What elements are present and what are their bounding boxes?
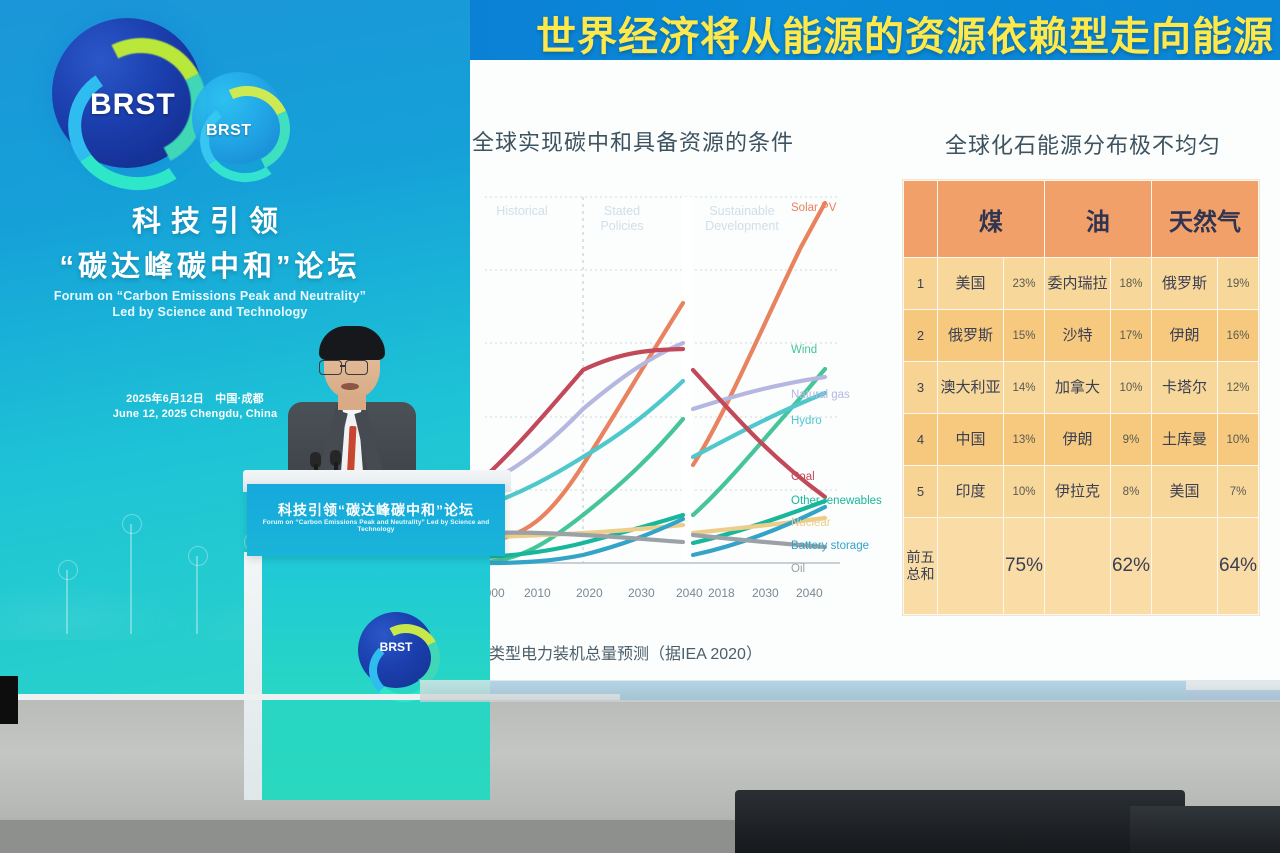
- chart-legend-natural-gas: Natural gas: [791, 389, 850, 401]
- chart-xtick-2030-sd: 2030: [752, 586, 779, 600]
- table-header-gas: 天然气: [1151, 181, 1258, 258]
- speaker-presenter: [286, 330, 418, 482]
- speaker-hair: [319, 326, 385, 360]
- row-rank: 5: [904, 466, 938, 518]
- total-gas-pct: 64%: [1218, 518, 1259, 615]
- cell-coal-pct: 10%: [1004, 466, 1045, 518]
- speaker-mouth: [341, 383, 359, 390]
- total-oil-blank: [1044, 518, 1110, 615]
- cell-coal-pct: 14%: [1004, 362, 1045, 414]
- cell-gas-country: 卡塔尔: [1151, 362, 1217, 414]
- chart-legend-battery-storage: Battery storage: [791, 540, 869, 552]
- cell-coal-country: 澳大利亚: [937, 362, 1003, 414]
- chart-xtick-2030: 2030: [628, 586, 655, 600]
- table-row: 4 中国 13% 伊朗 9% 土库曼 10%: [904, 414, 1259, 466]
- row-rank: 3: [904, 362, 938, 414]
- cell-oil-pct: 8%: [1111, 466, 1152, 518]
- slide-header-title: 世界经济将从能源的资源依赖型走向能源: [536, 4, 1280, 62]
- podium-banner-title-cn: 科技引领“碳达峰碳中和”论坛: [247, 500, 505, 520]
- cell-coal-pct: 13%: [1004, 414, 1045, 466]
- cell-oil-country: 伊朗: [1044, 414, 1110, 466]
- chart-legend-nuclear: Nuclear: [791, 517, 831, 529]
- stage-monitor-screen-secondary: [1130, 806, 1280, 853]
- cell-coal-country: 印度: [937, 466, 1003, 518]
- chart-legend-wind: Wind: [791, 344, 817, 356]
- total-coal-pct: 75%: [1004, 518, 1045, 615]
- chart-xtick-2018-sd: 2018: [708, 586, 735, 600]
- room-dark-corner: [0, 676, 18, 724]
- chart-legend-hydro: Hydro: [791, 415, 822, 427]
- cell-coal-pct: 15%: [1004, 310, 1045, 362]
- table-header-blank: [904, 181, 938, 258]
- cell-oil-country: 伊拉克: [1044, 466, 1110, 518]
- cell-oil-pct: 18%: [1111, 258, 1152, 310]
- chart-xtick-2040-sd: 2040: [796, 586, 823, 600]
- cell-gas-country: 土库曼: [1151, 414, 1217, 466]
- cell-gas-pct: 7%: [1218, 466, 1259, 518]
- cell-oil-pct: 10%: [1111, 362, 1152, 414]
- logo-wordmark: BRST: [90, 88, 176, 122]
- backdrop-title-cn-line2: “碳达峰碳中和”论坛: [0, 243, 420, 285]
- table-total-row: 前五总和 75% 62% 64%: [904, 518, 1259, 615]
- row-rank: 4: [904, 414, 938, 466]
- cell-gas-country: 美国: [1151, 466, 1217, 518]
- slide-right-heading: 全球化石能源分布极不均匀: [945, 128, 1221, 160]
- wind-turbine-icon: [66, 570, 68, 634]
- total-label: 前五总和: [904, 518, 938, 615]
- screen-bottom-frame: [420, 680, 1280, 702]
- backdrop-title-cn-line1: 科技引领: [0, 198, 420, 240]
- cell-gas-country: 伊朗: [1151, 310, 1217, 362]
- fossil-fuel-distribution-table: 煤 油 天然气 1 美国 23% 委内瑞拉 18% 俄罗斯 19% 2 俄罗斯 …: [903, 180, 1259, 615]
- cell-oil-country: 委内瑞拉: [1044, 258, 1110, 310]
- chart-xtick-2020: 2020: [576, 586, 603, 600]
- table-header-row: 煤 油 天然气: [904, 181, 1259, 258]
- table-header-coal: 煤: [937, 181, 1044, 258]
- chart-legend-coal: Coal: [791, 471, 815, 483]
- wind-turbine-icon: [196, 556, 198, 634]
- cell-oil-country: 沙特: [1044, 310, 1110, 362]
- chart-legend-solar-pv: Solar PV: [791, 202, 836, 214]
- total-gas-blank: [1151, 518, 1217, 615]
- cell-oil-country: 加拿大: [1044, 362, 1110, 414]
- cell-coal-country: 美国: [937, 258, 1003, 310]
- chart-xtick-2040: 2040: [676, 586, 703, 600]
- table-row: 2 俄罗斯 15% 沙特 17% 伊朗 16%: [904, 310, 1259, 362]
- wind-turbine-icon: [130, 524, 132, 634]
- backdrop-title-en-line1: Forum on “Carbon Emissions Peak and Neut…: [0, 288, 420, 304]
- chart-legend-other-renewables: Other renewables: [791, 495, 882, 507]
- podium-logo-wordmark: BRST: [358, 640, 434, 654]
- glasses-icon: [319, 360, 342, 375]
- podium-brst-logo: BRST: [358, 612, 434, 688]
- cell-gas-country: 俄罗斯: [1151, 258, 1217, 310]
- table-header-oil: 油: [1044, 181, 1151, 258]
- chart-xtick-2010: 2010: [524, 586, 551, 600]
- photo-scene: 世界经济将从能源的资源依赖型走向能源 全球实现碳中和具备资源的条件 全球化石能源…: [0, 0, 1280, 853]
- podium-banner-title-en: Forum on “Carbon Emissions Peak and Neut…: [247, 519, 505, 533]
- stage-monitor-screen: [735, 790, 1185, 853]
- total-coal-blank: [937, 518, 1003, 615]
- row-rank: 1: [904, 258, 938, 310]
- table-row: 5 印度 10% 伊拉克 8% 美国 7%: [904, 466, 1259, 518]
- logo-wordmark-secondary: BRST: [206, 122, 252, 140]
- backdrop-title-en: Forum on “Carbon Emissions Peak and Neut…: [0, 288, 420, 320]
- cell-coal-pct: 23%: [1004, 258, 1045, 310]
- glasses-icon: [345, 360, 368, 375]
- table-row: 1 美国 23% 委内瑞拉 18% 俄罗斯 19%: [904, 258, 1259, 310]
- table-row: 3 澳大利亚 14% 加拿大 10% 卡塔尔 12%: [904, 362, 1259, 414]
- cell-coal-country: 俄罗斯: [937, 310, 1003, 362]
- cell-gas-pct: 16%: [1218, 310, 1259, 362]
- row-rank: 2: [904, 310, 938, 362]
- slide-left-heading: 全球实现碳中和具备资源的条件: [472, 125, 794, 157]
- total-oil-pct: 62%: [1111, 518, 1152, 615]
- brst-logo: BRST BRST: [42, 10, 282, 185]
- cell-gas-pct: 12%: [1218, 362, 1259, 414]
- chart-legend-oil: Oil: [791, 563, 805, 575]
- cell-gas-pct: 10%: [1218, 414, 1259, 466]
- cell-oil-pct: 17%: [1111, 310, 1152, 362]
- cell-coal-country: 中国: [937, 414, 1003, 466]
- backdrop-title-en-line2: Led by Science and Technology: [0, 304, 420, 320]
- glasses-bridge: [340, 365, 346, 367]
- cell-gas-pct: 19%: [1218, 258, 1259, 310]
- cell-oil-pct: 9%: [1111, 414, 1152, 466]
